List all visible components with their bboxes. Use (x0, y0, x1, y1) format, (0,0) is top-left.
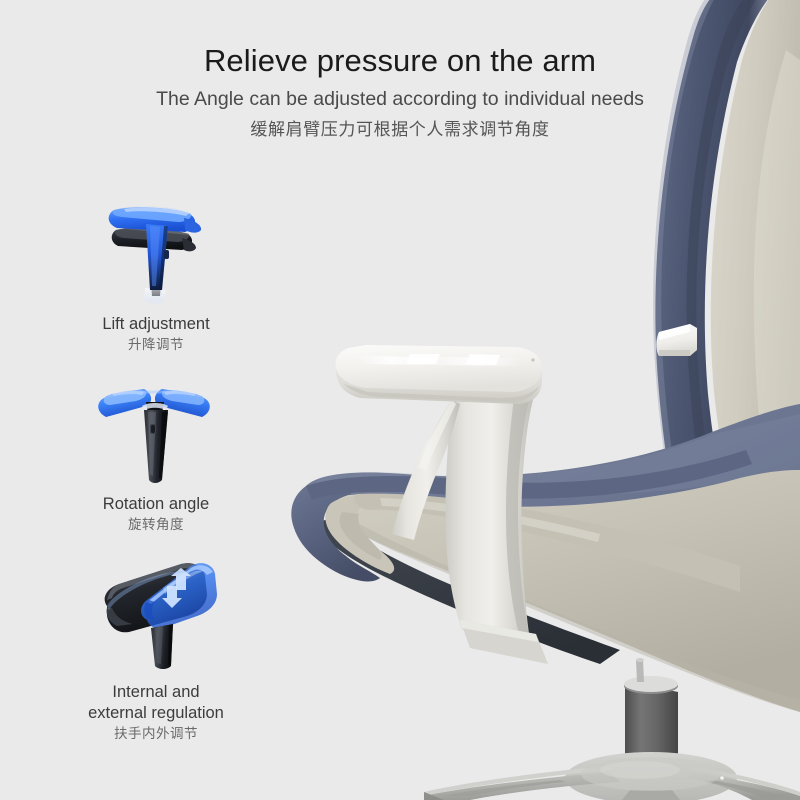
page-title: Relieve pressure on the arm (0, 42, 800, 80)
header: Relieve pressure on the arm The Angle ca… (0, 42, 800, 143)
feature-internal-external-regulation: Internal and external regulation 扶手内外调节 (0, 550, 310, 744)
feature-label-cn: 扶手内外调节 (0, 724, 310, 744)
armrest-lift-icon (90, 178, 220, 308)
feature-label-cn: 旋转角度 (0, 515, 310, 535)
feature-lift-adjustment: Lift adjustment 升降调节 (0, 178, 310, 355)
feature-label-en: Lift adjustment (0, 314, 310, 335)
feature-label-cn: 升降调节 (0, 335, 310, 355)
feature-label-en-line1: Internal and (0, 682, 310, 703)
five-star-base (424, 752, 800, 800)
armrest-rotation-icon (90, 368, 220, 488)
subtitle-chinese: 缓解肩臂压力可根据个人需求调节角度 (0, 116, 800, 143)
feature-label-en: Rotation angle (0, 494, 310, 515)
armrest-slide-icon (85, 550, 225, 676)
product-marketing-image: Relieve pressure on the arm The Angle ca… (0, 0, 800, 800)
feature-label-en-line2: external regulation (0, 703, 310, 724)
subtitle-english: The Angle can be adjusted according to i… (0, 84, 800, 114)
feature-rotation-angle: Rotation angle 旋转角度 (0, 368, 310, 535)
armrest-pad[interactable] (336, 345, 543, 404)
